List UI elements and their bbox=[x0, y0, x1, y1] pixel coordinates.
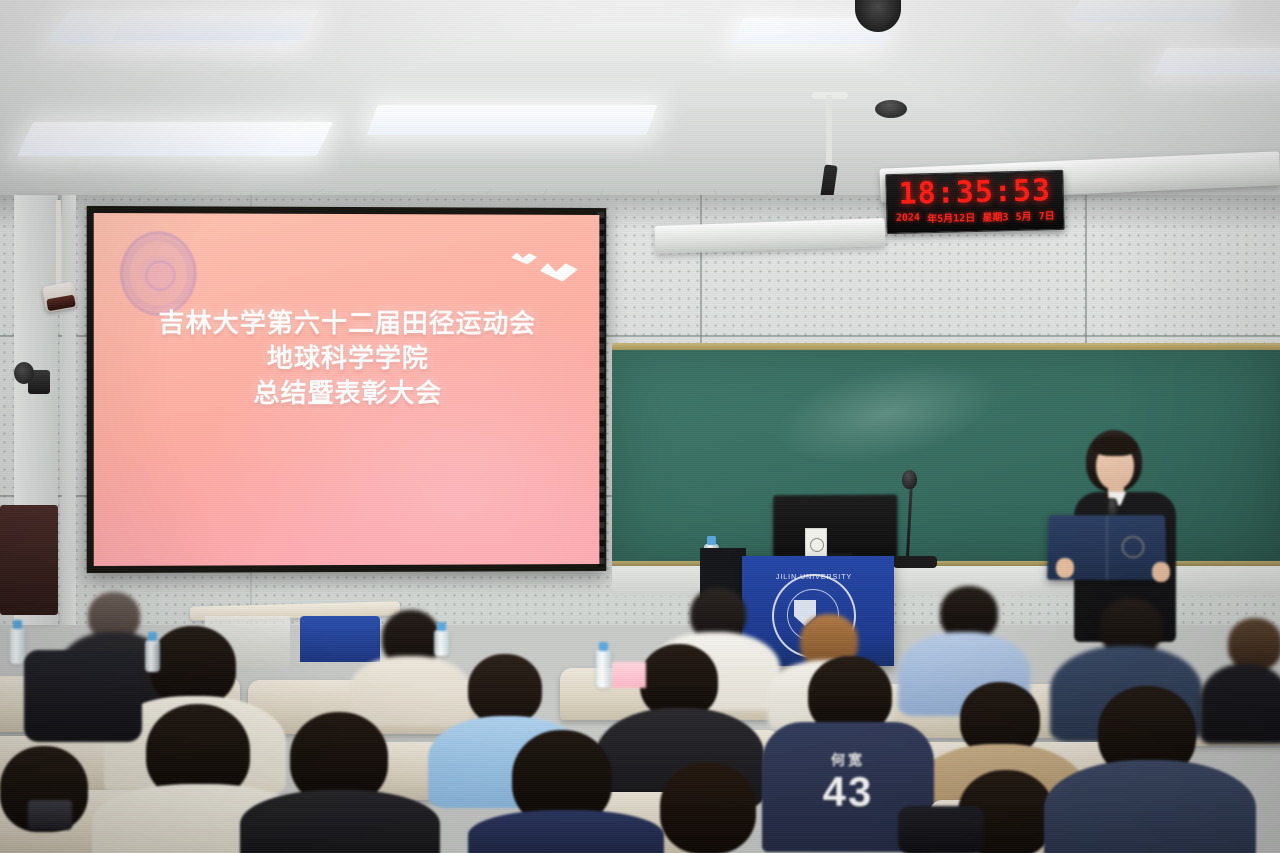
ceiling-light-panel bbox=[17, 122, 334, 156]
slide-title-line-2: 地球科学学院 bbox=[94, 341, 600, 376]
clock-weekday: 星期3 bbox=[982, 208, 1008, 224]
ceiling-light-panel bbox=[112, 18, 315, 40]
water-bottle bbox=[434, 630, 449, 656]
lecture-hall-photo: 18:35:53 2024 年5月12日 星期3 5月 7日 吉林大学第六十二届… bbox=[0, 0, 1280, 853]
wall-cabinet bbox=[0, 505, 58, 615]
podium-seal-text: JILIN UNIVERSITY bbox=[774, 574, 854, 581]
person-body bbox=[240, 790, 440, 853]
wall-column-edge bbox=[62, 195, 76, 625]
ceiling-speaker-dome-icon bbox=[875, 100, 907, 118]
university-emblem-icon bbox=[120, 231, 197, 316]
person-head bbox=[150, 626, 236, 706]
person-body bbox=[468, 810, 664, 853]
camera-mount-arm bbox=[56, 200, 61, 286]
clock-lunar-month: 5月 bbox=[1015, 208, 1031, 223]
slide-title-line-1: 吉林大学第六十二届田径运动会 bbox=[94, 306, 600, 342]
wall-camera-icon bbox=[42, 281, 78, 312]
backpack bbox=[24, 650, 142, 742]
slide-title-block: 吉林大学第六十二届田径运动会 地球科学学院 总结暨表彰大会 bbox=[94, 306, 600, 411]
water-bottle bbox=[10, 628, 25, 664]
person-body bbox=[1044, 760, 1256, 853]
person-head bbox=[640, 644, 718, 718]
person-body bbox=[1200, 664, 1280, 744]
folder-emblem-icon bbox=[1122, 536, 1144, 558]
projection-screen: 吉林大学第六十二届田径运动会 地球科学学院 总结暨表彰大会 bbox=[87, 206, 607, 573]
projector-mount-rod bbox=[826, 95, 832, 169]
blue-chair bbox=[300, 616, 380, 662]
pink-paper bbox=[612, 662, 646, 688]
clock-time: 18:35:53 bbox=[886, 173, 1063, 212]
ceiling-light-panel bbox=[367, 105, 658, 135]
clock-month-day: 年5月12日 bbox=[927, 209, 975, 225]
ceiling-light-panel bbox=[1154, 48, 1280, 74]
microphone-base bbox=[893, 556, 937, 568]
water-bottle bbox=[596, 650, 611, 688]
dove-icon bbox=[511, 253, 537, 265]
person-head bbox=[468, 654, 542, 724]
desktop-monitor bbox=[773, 495, 897, 558]
person-body bbox=[350, 656, 470, 726]
ceiling-light-panel bbox=[1070, 0, 1230, 22]
presenter-hand bbox=[1152, 562, 1170, 582]
clock-date-row: 2024 年5月12日 星期3 5月 7日 bbox=[887, 207, 1063, 226]
wall-speaker-icon bbox=[28, 370, 50, 394]
presenter-hand bbox=[1056, 558, 1074, 578]
water-bottle bbox=[145, 640, 160, 672]
microphone-icon bbox=[902, 470, 917, 489]
led-wall-clock: 18:35:53 2024 年5月12日 星期3 5月 7日 bbox=[885, 170, 1064, 234]
wall-seam bbox=[700, 195, 702, 355]
presenter-fringe bbox=[1092, 436, 1138, 456]
clock-year: 2024 bbox=[896, 212, 920, 224]
person-head bbox=[660, 762, 756, 853]
person-head bbox=[1228, 618, 1280, 670]
presentation-slide: 吉林大学第六十二届田径运动会 地球科学学院 总结暨表彰大会 bbox=[94, 213, 600, 566]
clock-lunar-day: 7日 bbox=[1038, 207, 1054, 222]
chalk-smudge bbox=[765, 345, 1009, 481]
slide-title-line-3: 总结暨表彰大会 bbox=[94, 376, 600, 411]
bag bbox=[898, 806, 984, 853]
dove-icon bbox=[540, 263, 578, 282]
jersey-name: 何宽 bbox=[762, 750, 934, 770]
smartphone bbox=[28, 800, 72, 830]
